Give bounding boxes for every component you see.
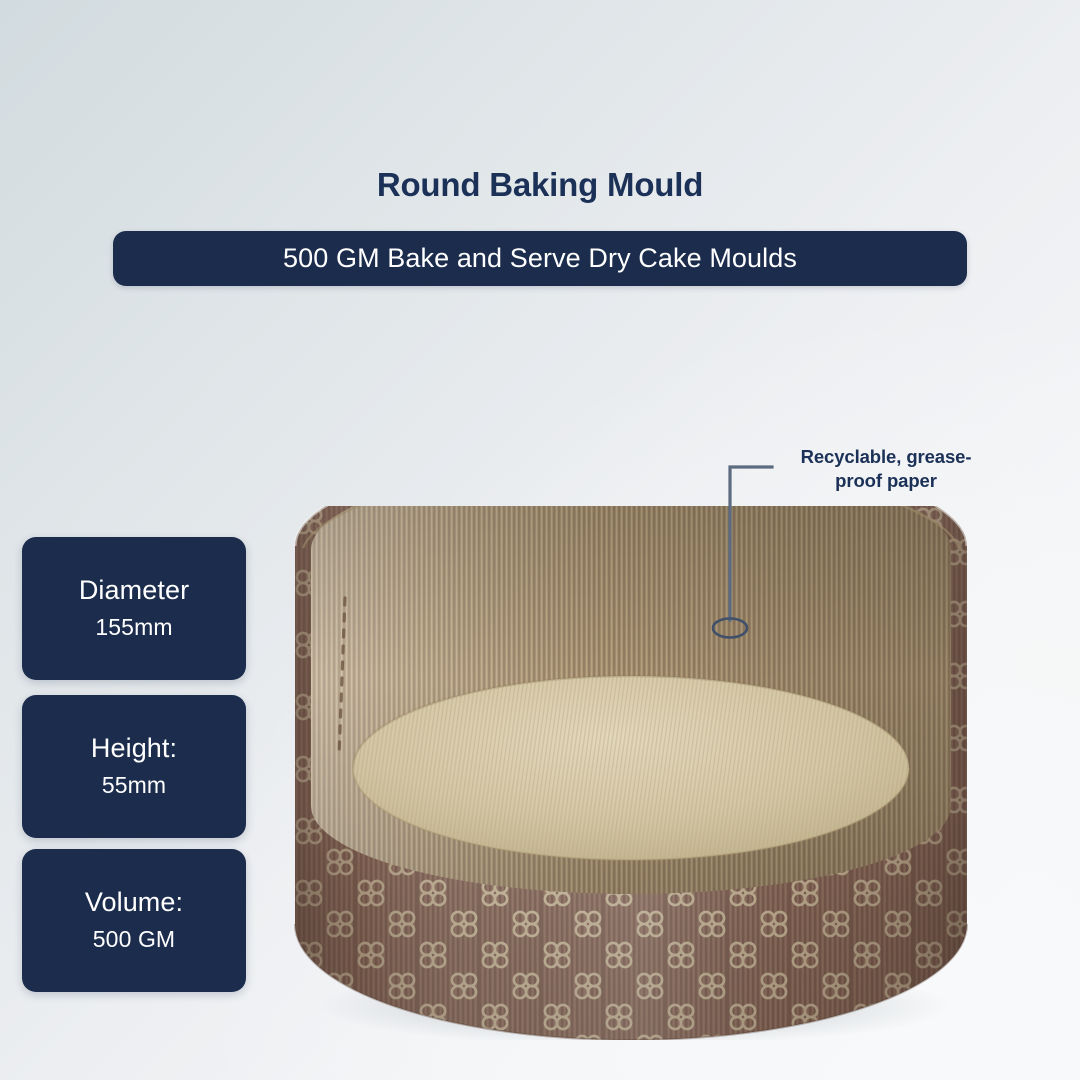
spec-value: 500 GM [93, 926, 175, 954]
subtitle-label: 500 GM Bake and Serve Dry Cake Moulds [283, 245, 797, 272]
callout-line-2: proof paper [760, 469, 1012, 493]
page-title: Round Baking Mould [0, 166, 1080, 204]
spec-label: Height: [91, 733, 177, 764]
spec-label: Volume: [85, 887, 183, 918]
subtitle-banner: 500 GM Bake and Serve Dry Cake Moulds [113, 231, 967, 286]
spec-value: 55mm [102, 772, 166, 800]
spec-value: 155mm [95, 614, 172, 642]
spec-label: Diameter [79, 575, 189, 606]
infographic-canvas: Round Baking Mould 500 GM Bake and Serve… [0, 0, 1080, 1080]
product-image-baking-mould [293, 506, 969, 1040]
mould-base [353, 676, 909, 860]
callout-line-1: Recyclable, grease- [760, 445, 1012, 469]
callout-recyclable-grease-proof-paper: Recyclable, grease- proof paper [760, 445, 1012, 492]
spec-badge-volume: Volume: 500 GM [22, 849, 246, 992]
spec-badge-height: Height: 55mm [22, 695, 246, 838]
spec-badge-diameter: Diameter 155mm [22, 537, 246, 680]
